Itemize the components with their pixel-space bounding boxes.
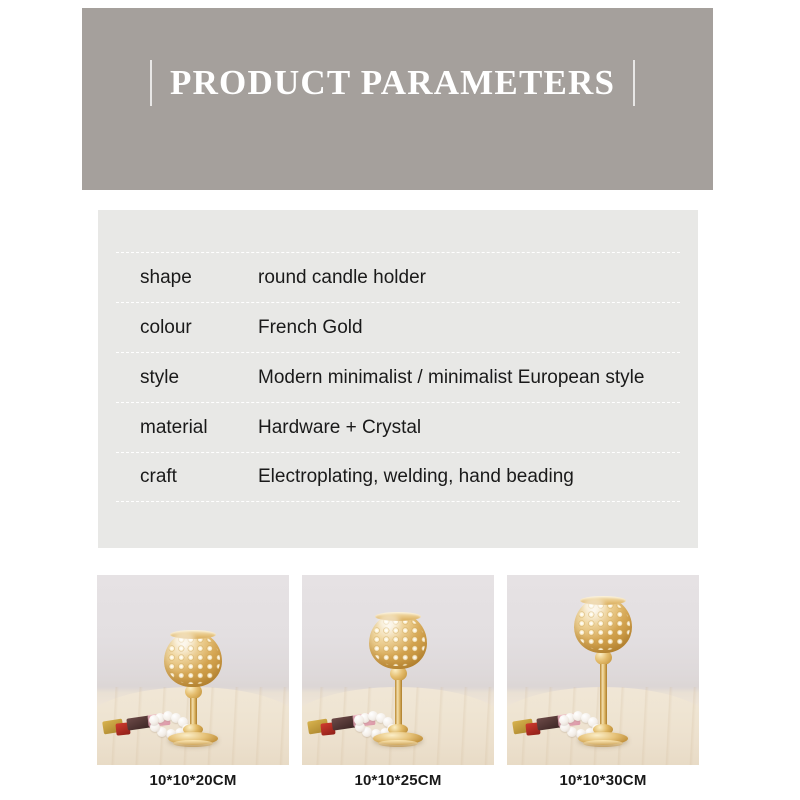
product-size-gallery: 10*10*20CM [97, 575, 701, 789]
table-row: material Hardware + Crystal [116, 402, 680, 452]
pearl-bead [354, 715, 364, 725]
param-value-material: Hardware + Crystal [258, 417, 680, 439]
gallery-item: 10*10*30CM [507, 575, 699, 789]
param-value-colour: French Gold [258, 317, 680, 339]
stem [190, 698, 197, 726]
table-row: craft Electroplating, welding, hand bead… [116, 452, 680, 502]
product-photo-30cm [507, 575, 699, 765]
param-label-style: style [116, 367, 258, 389]
bowl-rim [170, 630, 216, 639]
table-row: colour French Gold [116, 302, 680, 352]
page-header-banner: PRODUCT PARAMETERS [82, 8, 713, 190]
banner-title-group: PRODUCT PARAMETERS [150, 58, 635, 108]
photo-caption: 10*10*25CM [302, 772, 494, 789]
candle-holder-figure [574, 597, 632, 747]
bowl-rim [580, 596, 626, 605]
page-title: PRODUCT PARAMETERS [152, 60, 633, 106]
param-value-shape: round candle holder [258, 267, 680, 289]
pearl-bead [149, 715, 159, 725]
product-photo-20cm [97, 575, 289, 765]
base-ring [583, 740, 623, 747]
photo-caption: 10*10*30CM [507, 772, 699, 789]
param-value-craft: Electroplating, welding, hand beading [258, 466, 680, 488]
stem [395, 680, 402, 726]
table-row: style Modern minimalist / minimalist Eur… [116, 352, 680, 402]
gallery-item: 10*10*20CM [97, 575, 289, 789]
param-label-craft: craft [116, 466, 258, 488]
param-label-material: material [116, 417, 258, 439]
crystal-bowl [574, 597, 632, 653]
stem [600, 664, 607, 726]
param-value-style: Modern minimalist / minimalist European … [258, 367, 680, 389]
gallery-item: 10*10*25CM [302, 575, 494, 789]
base-ring [173, 740, 213, 747]
crystal-bowl [369, 613, 427, 669]
param-label-colour: colour [116, 317, 258, 339]
parameters-table: shape round candle holder colour French … [116, 252, 680, 502]
product-parameters-panel: shape round candle holder colour French … [98, 210, 698, 548]
table-row: shape round candle holder [116, 252, 680, 302]
base-ring [378, 740, 418, 747]
product-photo-25cm [302, 575, 494, 765]
pearl-bead [559, 715, 569, 725]
param-label-shape: shape [116, 267, 258, 289]
photo-caption: 10*10*20CM [97, 772, 289, 789]
candle-holder-figure [369, 613, 427, 747]
title-right-rule-icon [633, 60, 635, 106]
bowl-rim [375, 612, 421, 621]
crystal-bowl [164, 631, 222, 687]
candle-holder-figure [164, 631, 222, 747]
